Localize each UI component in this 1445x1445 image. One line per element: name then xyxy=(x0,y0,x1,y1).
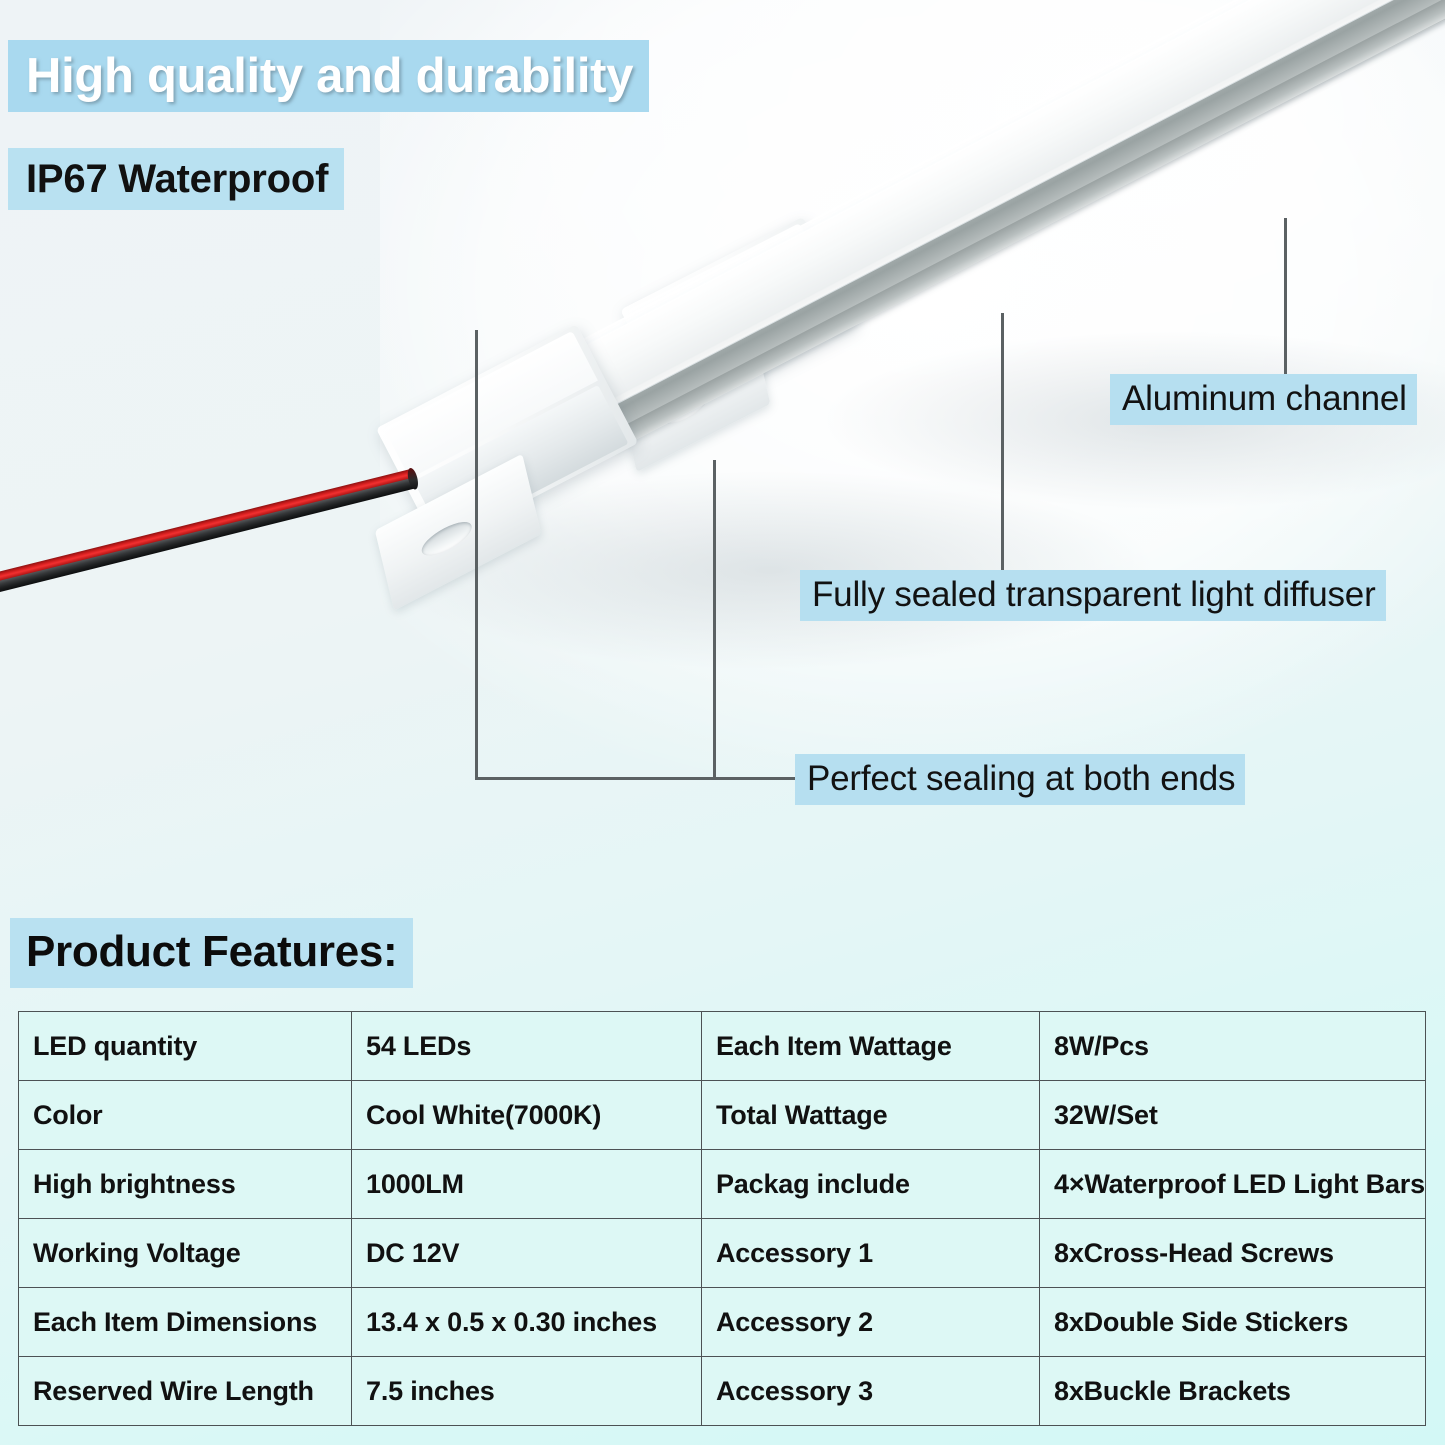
table-row: LED quantity 54 LEDs Each Item Wattage 8… xyxy=(19,1012,1426,1081)
spec-key-alt: Packag include xyxy=(702,1150,1040,1219)
leader-line-seal-join xyxy=(475,777,795,780)
spec-key-alt: Accessory 3 xyxy=(702,1357,1040,1426)
specifications-table: LED quantity 54 LEDs Each Item Wattage 8… xyxy=(18,1011,1426,1426)
spec-key: Each Item Dimensions xyxy=(19,1288,352,1357)
spec-table-body: LED quantity 54 LEDs Each Item Wattage 8… xyxy=(19,1012,1426,1426)
table-row: Color Cool White(7000K) Total Wattage 32… xyxy=(19,1081,1426,1150)
power-wire xyxy=(0,469,417,630)
spec-value-alt: 8xBuckle Brackets xyxy=(1040,1357,1426,1426)
table-row: Reserved Wire Length 7.5 inches Accessor… xyxy=(19,1357,1426,1426)
spec-value-alt: 4×Waterproof LED Light Bars xyxy=(1040,1150,1426,1219)
table-row: High brightness 1000LM Packag include 4×… xyxy=(19,1150,1426,1219)
spec-key: Color xyxy=(19,1081,352,1150)
spec-key: Reserved Wire Length xyxy=(19,1357,352,1426)
spec-value-alt: 32W/Set xyxy=(1040,1081,1426,1150)
table-row: Working Voltage DC 12V Accessory 1 8xCro… xyxy=(19,1219,1426,1288)
leader-line-light-diffuser xyxy=(1001,313,1004,571)
table-row: Each Item Dimensions 13.4 x 0.5 x 0.30 i… xyxy=(19,1288,1426,1357)
spec-value: Cool White(7000K) xyxy=(352,1081,702,1150)
spec-value: 7.5 inches xyxy=(352,1357,702,1426)
infographic-page: High quality and durability IP67 Waterpr… xyxy=(0,0,1445,1445)
callout-aluminum-channel: Aluminum channel xyxy=(1110,374,1417,425)
spec-key-alt: Total Wattage xyxy=(702,1081,1040,1150)
leader-line-aluminum-channel xyxy=(1284,218,1287,378)
spec-value-alt: 8xCross-Head Screws xyxy=(1040,1219,1426,1288)
spec-value: 54 LEDs xyxy=(352,1012,702,1081)
spec-key: LED quantity xyxy=(19,1012,352,1081)
product-features-title: Product Features: xyxy=(10,918,413,988)
spec-key: High brightness xyxy=(19,1150,352,1219)
product-photo xyxy=(0,0,1445,880)
spec-value: 1000LM xyxy=(352,1150,702,1219)
spec-key-alt: Accessory 1 xyxy=(702,1219,1040,1288)
callout-perfect-sealing: Perfect sealing at both ends xyxy=(795,754,1245,805)
spec-value-alt: 8xDouble Side Stickers xyxy=(1040,1288,1426,1357)
leader-line-seal-right xyxy=(713,460,716,777)
callout-light-diffuser: Fully sealed transparent light diffuser xyxy=(800,570,1386,621)
leader-line-seal-left xyxy=(475,330,478,777)
spec-value: DC 12V xyxy=(352,1219,702,1288)
spec-value-alt: 8W/Pcs xyxy=(1040,1012,1426,1081)
banner-high-quality: High quality and durability xyxy=(8,40,649,112)
spec-key: Working Voltage xyxy=(19,1219,352,1288)
spec-value: 13.4 x 0.5 x 0.30 inches xyxy=(352,1288,702,1357)
spec-key-alt: Each Item Wattage xyxy=(702,1012,1040,1081)
banner-ip67-waterproof: IP67 Waterproof xyxy=(8,148,344,210)
spec-key-alt: Accessory 2 xyxy=(702,1288,1040,1357)
